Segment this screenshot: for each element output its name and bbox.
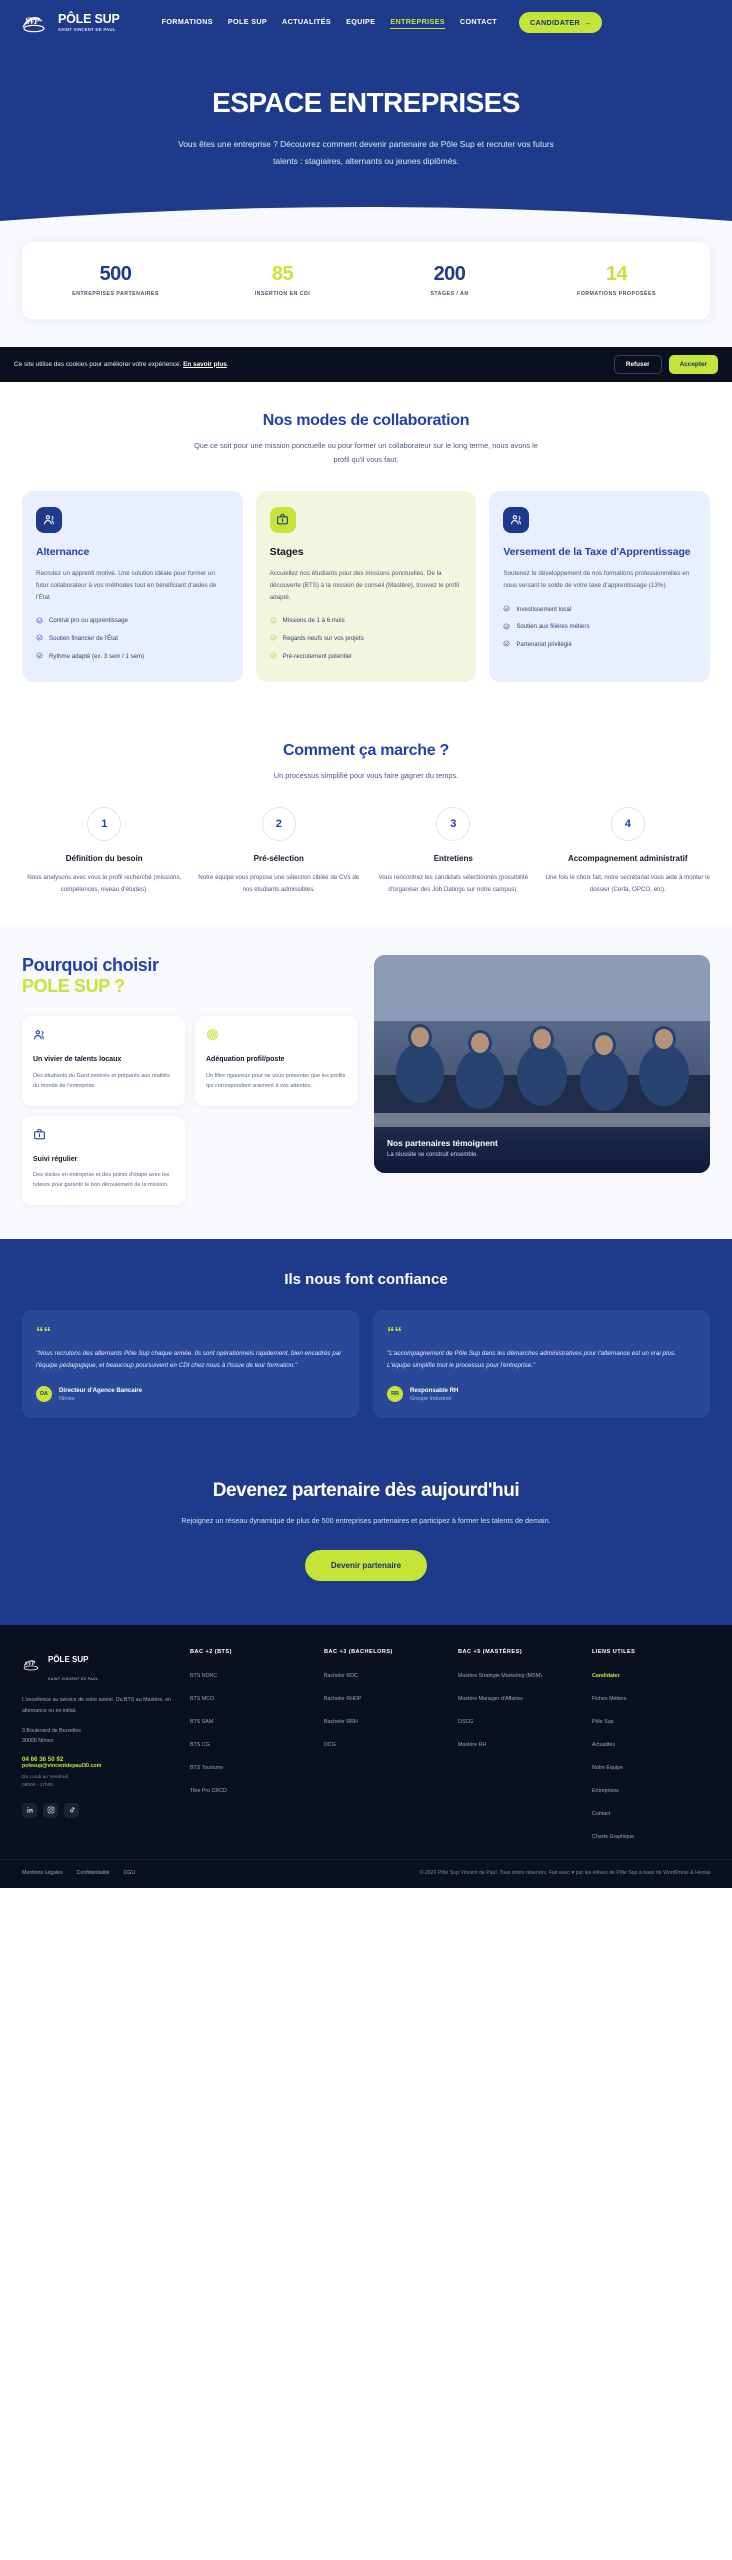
- instagram-icon[interactable]: [43, 1803, 58, 1818]
- testimonial-quote: "L'accompagnement de Pôle Sup dans les d…: [387, 1348, 696, 1373]
- footer-link[interactable]: DCG: [324, 1742, 336, 1748]
- footer-legal-link[interactable]: Confidentialité: [77, 1870, 110, 1876]
- mode-feature-list: Investissement local Soutien aux filière…: [503, 605, 696, 651]
- nav-item-formations[interactable]: FORMATIONS: [162, 17, 213, 28]
- collaboration-subtitle: Que ce soit pour une mission ponctuelle …: [186, 439, 546, 467]
- step-number: 4: [611, 807, 645, 841]
- footer-column-masteres: BAC +5 (MASTÈRES) Mastère Stratégie Mark…: [458, 1649, 576, 1843]
- list-item: Missions de 1 à 6 mois: [270, 616, 463, 627]
- collaboration-header: Nos modes de collaboration Que ce soit p…: [22, 412, 710, 467]
- testimonial-quote: "Nous recrutons des alternants Pôle Sup …: [36, 1348, 345, 1373]
- cookie-text: Ce site utilise des cookies pour amélior…: [14, 361, 229, 368]
- footer-column-heading: BAC +5 (MASTÈRES): [458, 1649, 576, 1655]
- footer-link[interactable]: Actualités: [592, 1742, 615, 1748]
- nav-item-actualites[interactable]: ACTUALITÉS: [282, 17, 331, 28]
- stat-label: STAGES / AN: [366, 291, 533, 297]
- footer-logo-title: PÔLE SUP: [48, 1655, 88, 1664]
- cookie-learn-more-link[interactable]: En savoir plus: [183, 361, 227, 368]
- footer-link[interactable]: Mastère Stratégie Marketing (MSM): [458, 1673, 542, 1679]
- list-item: Soutien aux filières métiers: [503, 622, 696, 633]
- step-title: Pré-sélection: [197, 854, 362, 865]
- check-circle-icon: [270, 617, 277, 627]
- process-step: 4 Accompagnement administratif Une fois …: [546, 807, 711, 895]
- devenir-partenaire-button[interactable]: Devenir partenaire: [305, 1550, 427, 1581]
- hero-curve-decoration: [0, 199, 732, 229]
- footer-link[interactable]: Fiches Métiers: [592, 1696, 626, 1702]
- list-item-label: Partenariat privilégié: [516, 640, 572, 649]
- list-item-label: Pré-recrutement potentiel: [283, 652, 352, 661]
- page-title: ESPACE ENTREPRISES: [0, 87, 732, 119]
- svg-text:SVP: SVP: [25, 16, 40, 26]
- author-role: Directeur d'Agence Bancaire: [59, 1387, 142, 1394]
- why-card-title: Suivi régulier: [33, 1155, 174, 1164]
- made-by-text: Fait avec ♥ par les élèves de Pôle Sup à…: [549, 1870, 710, 1876]
- author-role: Responsable RH: [410, 1387, 458, 1394]
- footer-link[interactable]: BTS Tourisme: [190, 1765, 223, 1771]
- step-description: Notre équipe vous propose une sélection …: [197, 872, 362, 895]
- footer-legal-links: Mentions Légales Confidentialité CGU: [22, 1870, 135, 1876]
- author-company: Nîmes: [59, 1396, 142, 1402]
- cookie-message: Ce site utilise des cookies pour amélior…: [14, 361, 181, 368]
- check-circle-icon: [270, 634, 277, 644]
- check-circle-icon: [503, 605, 510, 615]
- list-item-label: Investissement local: [516, 605, 571, 614]
- footer-description: L'excellence au service de votre avenir.…: [22, 1695, 174, 1716]
- footer-link[interactable]: DSCG: [458, 1719, 473, 1725]
- final-cta-subtitle: Rejoignez un réseau dynamique de plus de…: [166, 1514, 566, 1528]
- testimonial-card: ““ "Nous recrutons des alternants Pôle S…: [22, 1310, 359, 1419]
- mode-description: Accueillez nos étudiants pour des missio…: [270, 568, 463, 603]
- footer-legal-link[interactable]: CGU: [124, 1870, 136, 1876]
- stat-label: INSERTION EN CDI: [199, 291, 366, 297]
- footer-column-heading: LIENS UTILES: [592, 1649, 710, 1655]
- mode-title: Alternance: [36, 546, 229, 560]
- site-footer: SVP PÔLE SUP SAINT VINCENT DE PAUL L'exc…: [0, 1625, 732, 1859]
- process-header: Comment ça marche ? Un processus simplif…: [22, 742, 710, 783]
- svp-monogram-icon: SVP: [22, 1657, 44, 1677]
- footer-link[interactable]: BTS MCO: [190, 1696, 214, 1702]
- stat-item: 200 STAGES / AN: [366, 264, 533, 297]
- check-circle-icon: [503, 640, 510, 650]
- list-item-label: Missions de 1 à 6 mois: [283, 616, 345, 625]
- list-item-label: Contrat pro ou apprentissage: [49, 616, 128, 625]
- footer-email[interactable]: polesup@vincentdepaul30.com: [22, 1763, 174, 1769]
- why-title: Pourquoi choisir POLE SUP ?: [22, 955, 358, 996]
- candidater-label: CANDIDATER: [530, 18, 580, 27]
- stat-item: 14 FORMATIONS PROPOSÉES: [533, 264, 700, 297]
- linkedin-icon[interactable]: [22, 1803, 37, 1818]
- nav-item-contact[interactable]: CONTACT: [460, 17, 497, 28]
- footer-legal-link[interactable]: Mentions Légales: [22, 1870, 63, 1876]
- why-card-title: Un vivier de talents locaux: [33, 1055, 174, 1064]
- footer-bottom-bar: Mentions Légales Confidentialité CGU © 2…: [0, 1859, 732, 1888]
- users-icon: [33, 1028, 174, 1046]
- footer-link[interactable]: Pôle Sup: [592, 1719, 614, 1725]
- stat-value: 14: [533, 264, 700, 284]
- site-header: SVP PÔLE SUP SAINT VINCENT DE PAUL FORMA…: [0, 0, 732, 45]
- footer-logo[interactable]: SVP PÔLE SUP SAINT VINCENT DE PAUL: [22, 1649, 174, 1685]
- final-cta-section: Devenez partenaire dès aujourd'hui Rejoi…: [0, 1456, 732, 1625]
- author-company: Groupe Industriel: [410, 1396, 458, 1402]
- mode-feature-list: Missions de 1 à 6 mois Regards neufs sur…: [270, 616, 463, 662]
- step-description: Une fois le choix fait, notre secrétaria…: [546, 872, 711, 895]
- stat-value: 500: [32, 264, 199, 284]
- avatar: DA: [36, 1386, 52, 1402]
- cookie-actions: Refuser Accepter: [614, 355, 718, 374]
- step-description: Vous rencontrez les candidats sélectionn…: [371, 872, 536, 895]
- candidater-button[interactable]: CANDIDATER →: [519, 12, 602, 33]
- footer-logo-subtitle: SAINT VINCENT DE PAUL: [48, 1677, 98, 1681]
- footer-link[interactable]: Mastère Manager d'Affaires: [458, 1696, 523, 1702]
- hero-section: ESPACE ENTREPRISES Vous êtes une entrepr…: [0, 45, 732, 228]
- process-step: 3 Entretiens Vous rencontrez les candida…: [371, 807, 536, 895]
- footer-address: 3 Boulevard de Bruxelles 30000 Nîmes: [22, 1726, 174, 1747]
- why-photo-wrapper: Nos partenaires témoignent La réussite s…: [374, 955, 710, 1173]
- stats-card: 500 ENTREPRISES PARTENAIRES 85 INSERTION…: [22, 242, 710, 319]
- nav-item-equipe[interactable]: EQUIPE: [346, 17, 375, 28]
- list-item-label: Soutien aux filières métiers: [516, 622, 589, 631]
- footer-brand: SVP PÔLE SUP SAINT VINCENT DE PAUL L'exc…: [22, 1649, 174, 1843]
- collaboration-title: Nos modes de collaboration: [22, 412, 710, 430]
- why-card-suivi: Suivi régulier Des visites en entreprise…: [22, 1116, 185, 1205]
- why-card-description: Des étudiants du Gard motivés et préparé…: [33, 1071, 174, 1092]
- tiktok-icon[interactable]: [64, 1803, 79, 1818]
- page-root: SVP PÔLE SUP SAINT VINCENT DE PAUL FORMA…: [0, 0, 732, 1888]
- target-icon: [206, 1028, 347, 1046]
- mode-title: Stages: [270, 546, 463, 560]
- step-number: 3: [436, 807, 470, 841]
- why-choose-section: Pourquoi choisir POLE SUP ? Un vivier de…: [0, 925, 732, 1239]
- why-card-talents: Un vivier de talents locaux Des étudiant…: [22, 1016, 185, 1105]
- stat-value: 200: [366, 264, 533, 284]
- why-left-column: Pourquoi choisir POLE SUP ? Un vivier de…: [22, 955, 358, 1205]
- testimonials-grid: ““ "Nous recrutons des alternants Pôle S…: [22, 1310, 710, 1419]
- stat-label: ENTREPRISES PARTENAIRES: [32, 291, 199, 297]
- footer-column-bts: BAC +2 (BTS) BTS NDRC BTS MCO BTS SAM BT…: [190, 1649, 308, 1843]
- check-circle-icon: [36, 652, 43, 662]
- footer-phone[interactable]: 04 66 36 50 92: [22, 1756, 174, 1763]
- footer-link[interactable]: Entreprises: [592, 1788, 619, 1794]
- why-card-description: Des visites en entreprise et des points …: [33, 1170, 174, 1191]
- cookie-banner: Ce site utilise des cookies pour amélior…: [0, 347, 732, 382]
- footer-link[interactable]: BTS CG: [190, 1742, 210, 1748]
- check-circle-icon: [503, 623, 510, 633]
- mode-card-taxe-apprentissage: Versement de la Taxe d'Apprentissage Sou…: [489, 491, 710, 682]
- stats-section: 500 ENTREPRISES PARTENAIRES 85 INSERTION…: [0, 228, 732, 347]
- avatar: RR: [387, 1386, 403, 1402]
- check-circle-icon: [36, 617, 43, 627]
- final-cta-title: Devenez partenaire dès aujourd'hui: [22, 1480, 710, 1502]
- logo-subtitle: SAINT VINCENT DE PAUL: [58, 28, 120, 32]
- footer-link[interactable]: Bachelor RRH: [324, 1719, 358, 1725]
- why-title-line2: POLE SUP ?: [22, 976, 358, 997]
- arrow-right-icon: →: [584, 18, 592, 27]
- why-card-title: Adéquation profil/poste: [206, 1055, 347, 1064]
- stat-item: 85 INSERTION EN CDI: [199, 264, 366, 297]
- footer-link-candidater[interactable]: Candidater: [592, 1673, 620, 1679]
- process-section: Comment ça marche ? Un processus simplif…: [0, 712, 732, 925]
- list-item: Contrat pro ou apprentissage: [36, 616, 229, 627]
- why-cards: Un vivier de talents locaux Des étudiant…: [22, 1016, 358, 1204]
- footer-column-heading: BAC +3 (BACHELORS): [324, 1649, 442, 1655]
- collaboration-section: Nos modes de collaboration Que ce soit p…: [0, 382, 732, 713]
- process-step: 1 Définition du besoin Nous analysons av…: [22, 807, 187, 895]
- testimonial-author: RR Responsable RH Groupe Industriel: [387, 1386, 696, 1402]
- process-subtitle: Un processus simplifié pour vous faire g…: [186, 769, 546, 783]
- footer-link[interactable]: Contact: [592, 1811, 610, 1817]
- hero-subtitle: Vous êtes une entreprise ? Découvrez com…: [166, 136, 566, 170]
- list-item: Pré-recrutement potentiel: [270, 652, 463, 663]
- briefcase-icon: [33, 1128, 174, 1146]
- footer-link[interactable]: Bachelor RHDP: [324, 1696, 361, 1702]
- stat-item: 500 ENTREPRISES PARTENAIRES: [32, 264, 199, 297]
- cookie-refuse-button[interactable]: Refuser: [614, 355, 662, 374]
- footer-link[interactable]: Bachelor RDC: [324, 1673, 358, 1679]
- quote-icon: ““: [36, 1325, 345, 1340]
- footer-link[interactable]: Titre Pro CRCD: [190, 1788, 227, 1794]
- footer-link[interactable]: Mastère RH: [458, 1742, 486, 1748]
- step-title: Accompagnement administratif: [546, 854, 711, 865]
- main-nav: FORMATIONS POLE SUP ACTUALITÉS EQUIPE EN…: [162, 17, 497, 29]
- svp-monogram-icon: SVP: [20, 12, 54, 34]
- list-item-label: Soutien financier de l'État: [49, 634, 118, 643]
- step-number: 1: [87, 807, 121, 841]
- footer-column-heading: BAC +2 (BTS): [190, 1649, 308, 1655]
- step-title: Définition du besoin: [22, 854, 187, 865]
- testimonial-author: DA Directeur d'Agence Bancaire Nîmes: [36, 1386, 345, 1402]
- mode-description: Recrutez un apprenti motivé. Une solutio…: [36, 568, 229, 603]
- check-circle-icon: [36, 634, 43, 644]
- site-logo[interactable]: SVP PÔLE SUP SAINT VINCENT DE PAUL: [20, 12, 120, 34]
- testimonials-title: Ils nous font confiance: [22, 1271, 710, 1288]
- stat-label: FORMATIONS PROPOSÉES: [533, 291, 700, 297]
- footer-link[interactable]: BTS SAM: [190, 1719, 213, 1725]
- step-number: 2: [262, 807, 296, 841]
- why-card-adequation: Adéquation profil/poste Un filtre rigour…: [195, 1016, 358, 1105]
- footer-socials: [22, 1803, 174, 1818]
- photo-caption: Nos partenaires témoignent La réussite s…: [374, 1124, 710, 1173]
- cookie-accept-button[interactable]: Accepter: [669, 355, 718, 374]
- footer-column-liens-utiles: LIENS UTILES Candidater Fiches Métiers P…: [592, 1649, 710, 1843]
- footer-copyright: © 2026 Pôle Sup Vincent de Paul. Tous dr…: [420, 1870, 710, 1876]
- users-icon: [36, 507, 62, 533]
- nav-item-pole-sup[interactable]: POLE SUP: [228, 17, 267, 28]
- list-item: Rythme adapté (ex. 3 sem / 1 sem): [36, 652, 229, 663]
- list-item: Partenariat privilégié: [503, 640, 696, 651]
- copyright-text: © 2026 Pôle Sup Vincent de Paul. Tous dr…: [420, 1870, 548, 1876]
- why-title-line1: Pourquoi choisir: [22, 955, 159, 975]
- nav-item-entreprises[interactable]: ENTREPRISES: [390, 17, 445, 29]
- testimonials-section: Ils nous font confiance ““ "Nous recruto…: [0, 1239, 732, 1457]
- mode-card-stages: Stages Accueillez nos étudiants pour des…: [256, 491, 477, 682]
- footer-link[interactable]: BTS NDRC: [190, 1673, 217, 1679]
- step-title: Entretiens: [371, 854, 536, 865]
- process-steps: 1 Définition du besoin Nous analysons av…: [22, 807, 710, 895]
- check-circle-icon: [270, 652, 277, 662]
- photo-caption-subtitle: La réussite se construit ensemble.: [387, 1152, 697, 1158]
- mode-title: Versement de la Taxe d'Apprentissage: [503, 546, 696, 560]
- briefcase-icon: [270, 507, 296, 533]
- list-item-label: Regards neufs sur vos projets: [283, 634, 364, 643]
- mode-description: Soutenez le développement de nos formati…: [503, 568, 696, 591]
- users-icon: [503, 507, 529, 533]
- footer-column-bachelors: BAC +3 (BACHELORS) Bachelor RDC Bachelor…: [324, 1649, 442, 1843]
- quote-icon: ““: [387, 1325, 696, 1340]
- photo-caption-title: Nos partenaires témoignent: [387, 1138, 697, 1148]
- svg-text:SVP: SVP: [25, 1661, 36, 1667]
- logo-title: PÔLE SUP: [58, 13, 120, 26]
- mode-card-alternance: Alternance Recrutez un apprenti motivé. …: [22, 491, 243, 682]
- list-item-label: Rythme adapté (ex. 3 sem / 1 sem): [49, 652, 144, 661]
- list-item: Investissement local: [503, 605, 696, 616]
- list-item: Regards neufs sur vos projets: [270, 634, 463, 645]
- footer-link[interactable]: Notre Équipe: [592, 1765, 623, 1771]
- footer-link[interactable]: Charte Graphique: [592, 1834, 634, 1840]
- footer-hours: Du Lundi au Vendredi 08h00 - 17h00: [22, 1774, 174, 1791]
- process-step: 2 Pré-sélection Notre équipe vous propos…: [197, 807, 362, 895]
- stat-value: 85: [199, 264, 366, 284]
- list-item: Soutien financier de l'État: [36, 634, 229, 645]
- collaboration-cards: Alternance Recrutez un apprenti motivé. …: [22, 491, 710, 682]
- mode-feature-list: Contrat pro ou apprentissage Soutien fin…: [36, 616, 229, 662]
- step-description: Nous analysons avec vous le profil reche…: [22, 872, 187, 895]
- testimonial-card: ““ "L'accompagnement de Pôle Sup dans le…: [373, 1310, 710, 1419]
- why-card-description: Un filtre rigoureux pour ne vous présent…: [206, 1071, 347, 1092]
- process-title: Comment ça marche ?: [22, 742, 710, 760]
- students-classroom-photo: Nos partenaires témoignent La réussite s…: [374, 955, 710, 1173]
